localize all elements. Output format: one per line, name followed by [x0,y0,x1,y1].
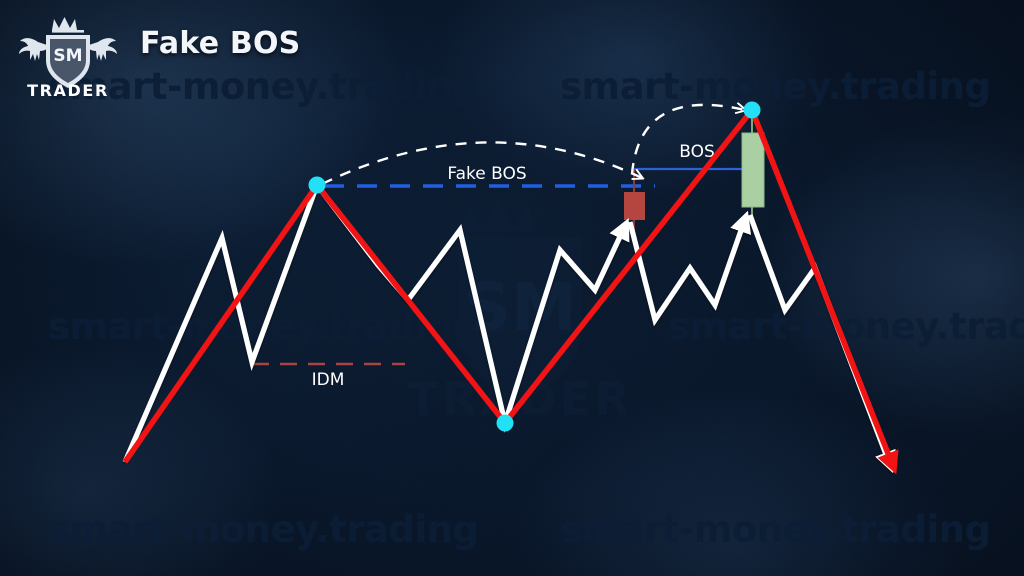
logo-brand-text: TRADER [27,81,109,98]
idm-annotation: IDM [252,364,405,390]
bull-candle-body [742,133,764,207]
idm-label: IDM [312,370,345,390]
bos-label: BOS [679,142,715,162]
logo-shield-text: SM [53,46,82,66]
chart-canvas: SM TRADER smart-money.trading smart-mone… [0,0,1024,576]
structure-segment-left [125,185,625,462]
pivot-dot-swing-high-fake [309,177,326,194]
fake-bos-annotation: Fake BOS [324,164,655,186]
price-structure-diagram: IDM Fake BOS BOS [0,0,1024,576]
pivot-dot-swing-low [497,415,514,432]
structure-segment-right [750,215,890,465]
sm-trader-logo-icon: SM TRADER [12,6,124,98]
pivot-dot-swing-high-bos [744,102,761,119]
fake-bos-label: Fake BOS [447,164,526,184]
structure-segment-mid [630,219,745,320]
bear-candle-body [624,192,645,220]
page-title: Fake BOS [140,26,301,61]
